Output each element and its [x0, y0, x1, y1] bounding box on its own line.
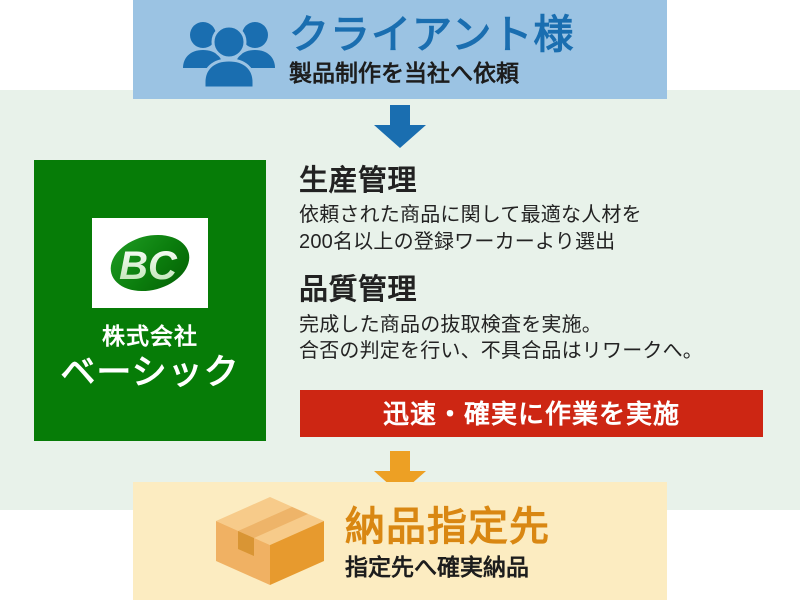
client-title: クライアント様: [289, 15, 574, 55]
logo-letters: BC: [119, 244, 178, 288]
delivery-title: 納品指定先: [345, 507, 550, 547]
company-name-prefix: 株式会社: [102, 325, 198, 348]
service-heading-quality: 品質管理: [299, 275, 769, 305]
service-body-line: 200名以上の登録ワーカーより選出: [299, 229, 769, 255]
client-banner: クライアント様 製品制作を当社へ依頼: [133, 0, 667, 99]
cardboard-box-icon: [211, 493, 329, 589]
company-name-main: ベーシック: [60, 355, 239, 390]
service-body-quality: 完成した商品の抜取検査を実施。 合否の判定を行い、不具合品はリワークへ。: [299, 312, 769, 365]
arrow-down-icon-top: [371, 105, 429, 149]
emphasis-banner: 迅速・確実に作業を実施: [300, 390, 763, 437]
delivery-text-group: 納品指定先 指定先へ確実納品: [345, 507, 550, 579]
diagram-canvas: クライアント様 製品制作を当社へ依頼: [0, 0, 800, 600]
service-body-line: 合否の判定を行い、不具合品はリワークへ。: [299, 338, 769, 364]
client-text-group: クライアント様 製品制作を当社へ依頼: [289, 15, 574, 85]
service-heading-production: 生産管理: [299, 166, 769, 196]
service-body-production: 依頼された商品に関して最適な人材を 200名以上の登録ワーカーより選出: [299, 202, 769, 255]
delivery-banner: 納品指定先 指定先へ確実納品: [133, 482, 667, 600]
company-box: BC 株式会社 ベーシック: [34, 160, 266, 441]
services-group: 生産管理 依頼された商品に関して最適な人材を 200名以上の登録ワーカーより選出…: [299, 166, 769, 364]
client-subtitle: 製品制作を当社へ依頼: [289, 62, 574, 85]
emphasis-banner-text: 迅速・確実に作業を実施: [383, 401, 680, 427]
people-group-icon: [181, 16, 277, 88]
service-body-line: 完成した商品の抜取検査を実施。: [299, 312, 769, 338]
delivery-subtitle: 指定先へ確実納品: [345, 556, 550, 579]
service-block-production: 生産管理 依頼された商品に関して最適な人材を 200名以上の登録ワーカーより選出: [299, 166, 769, 255]
bc-ellipse-logo-icon: BC: [98, 224, 202, 302]
service-block-quality: 品質管理 完成した商品の抜取検査を実施。 合否の判定を行い、不具合品はリワークへ…: [299, 275, 769, 364]
service-body-line: 依頼された商品に関して最適な人材を: [299, 202, 769, 228]
company-logo-card: BC: [92, 218, 208, 308]
